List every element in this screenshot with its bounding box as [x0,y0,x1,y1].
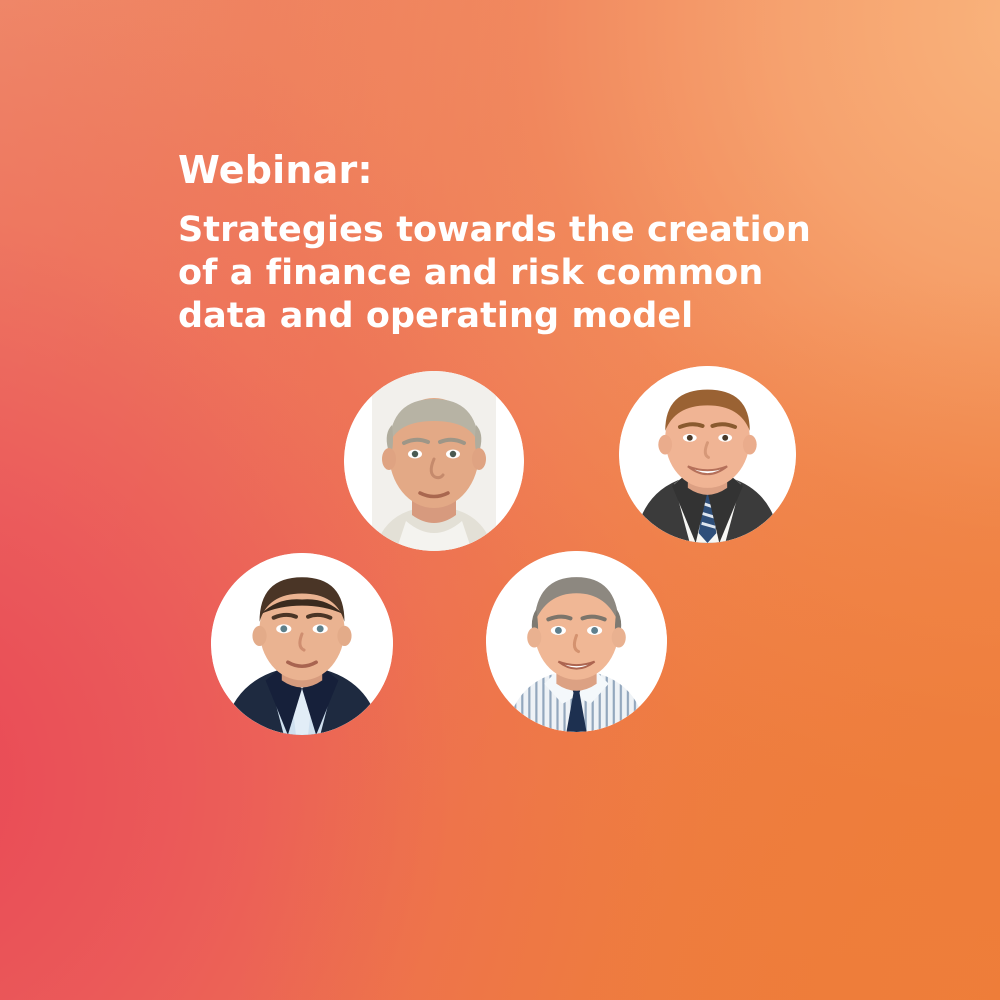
speaker-portrait-2 [619,366,796,543]
speaker-portrait-3 [211,553,393,735]
webinar-promo-graphic: Webinar: Strategies towards the creation… [0,0,1000,1000]
title-block: Webinar: Strategies towards the creation… [178,147,878,338]
speaker-portrait-1 [344,371,524,551]
webinar-kicker: Webinar: [178,147,878,193]
webinar-headline: Strategies towards the creation of a fin… [178,209,828,338]
sponsor-logo-row: Bank of Ireland Aptitude [0,755,1000,865]
speaker-portrait-4 [486,551,667,732]
